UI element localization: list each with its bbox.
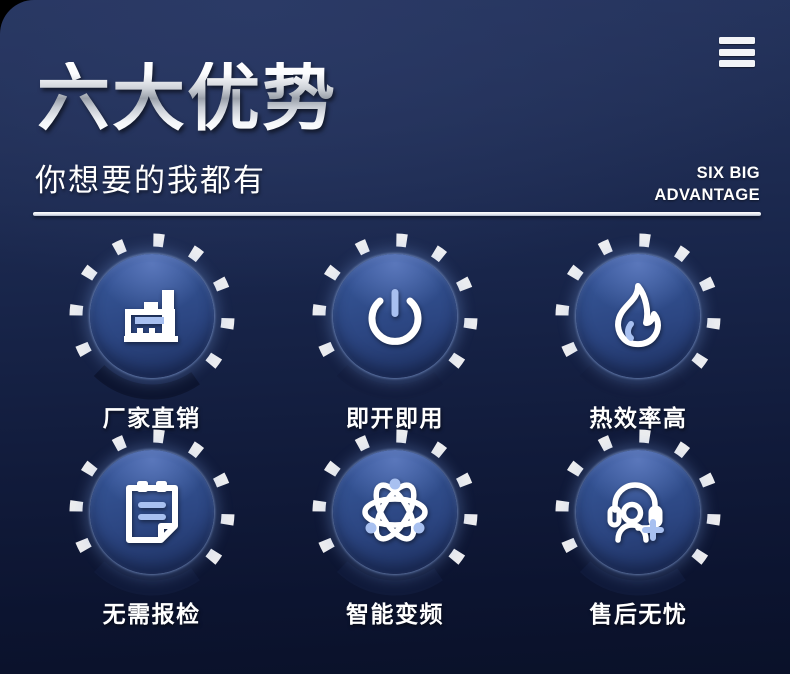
feature-label: 热效率高 [589,399,687,433]
headset-support-icon [605,480,671,544]
power-icon [363,284,427,348]
eyebrow-text: SIX BIG ADVANTAGE [654,163,760,207]
page-title: 六大优势 [37,62,337,135]
advantage-poster: 六大优势 你想要的我都有 SIX BIG ADVANTAGE [0,0,790,674]
eyebrow-line-2: ADVANTAGE [654,185,760,207]
feature-label: 厂家直销 [103,399,201,433]
disc-atom [333,450,457,574]
badge-support [562,436,714,588]
clipboard-icon [121,478,183,546]
feature-item-no-inspection[interactable]: 无需报检 [30,436,273,632]
hamburger-bar-1 [719,37,755,44]
feature-label: 无需报检 [103,595,201,629]
feature-label: 智能变频 [346,595,444,629]
flame-icon [608,282,668,350]
hamburger-menu-icon[interactable] [719,37,755,67]
disc-factory [90,254,214,378]
page-subtitle: 你想要的我都有 [35,155,266,200]
badge-factory [76,240,228,392]
feature-grid: 厂家直销 即开即用 [30,240,760,632]
feature-item-instant-use[interactable]: 即开即用 [273,240,516,436]
feature-label: 即开即用 [346,399,444,433]
atom-icon [360,477,430,547]
factory-icon [118,284,186,348]
badge-atom [319,436,471,588]
eyebrow-line-1: SIX BIG [654,163,760,185]
hamburger-bar-3 [719,60,755,67]
header-divider [33,212,761,216]
badge-flame [562,240,714,392]
feature-item-after-sales[interactable]: 售后无忧 [517,436,760,632]
disc-clipboard [90,450,214,574]
badge-clipboard [76,436,228,588]
badge-power [319,240,471,392]
feature-label: 售后无忧 [589,595,687,629]
disc-flame [576,254,700,378]
feature-item-smart-frequency[interactable]: 智能变频 [273,436,516,632]
disc-support [576,450,700,574]
disc-power [333,254,457,378]
hamburger-bar-2 [719,49,755,56]
feature-item-high-efficiency[interactable]: 热效率高 [517,240,760,436]
feature-item-factory-direct-sales[interactable]: 厂家直销 [30,240,273,436]
